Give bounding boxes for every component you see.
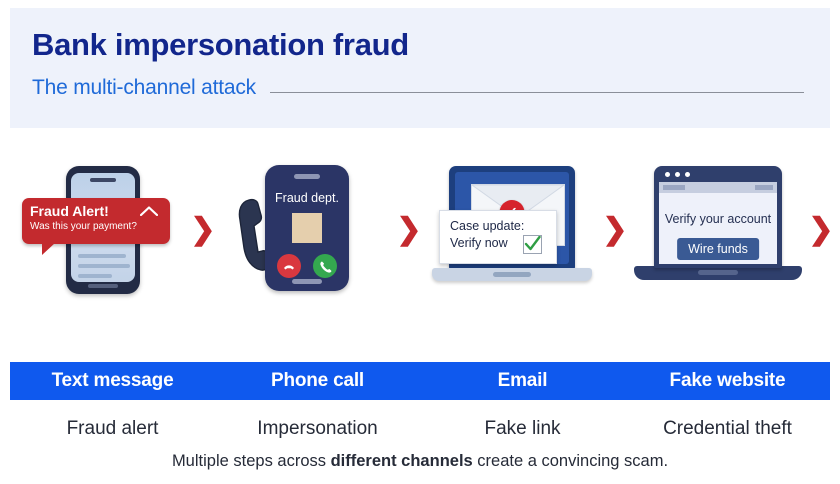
flow-arrow-1: ❯ (190, 215, 216, 245)
channel-label-fake-website: Fake website (625, 370, 830, 392)
infographic-canvas: Bank impersonation fraud The multi-chann… (0, 0, 840, 484)
browser-dot (675, 172, 680, 177)
email-notification-card: Case update: Verify now (439, 210, 557, 264)
attack-flow-strip: Fraud Alert! Was this your payment? ❯ Fr… (10, 150, 830, 310)
header-divider-rule (270, 92, 804, 93)
step-phone-call: Fraud dept. (216, 150, 396, 310)
caption-row: Fraud alert Impersonation Fake link Cred… (10, 412, 830, 446)
caption-impersonation: Impersonation (215, 418, 420, 440)
flow-arrow-3: ❯ (602, 215, 628, 245)
channel-label-email: Email (420, 370, 625, 392)
flow-arrow-4: ❯ (808, 215, 834, 245)
subtitle-row: The multi-channel attack (32, 76, 808, 100)
smartphone-sms-icon: Fraud Alert! Was this your payment? (20, 160, 180, 300)
browser-viewport: Verify your account Wire funds (659, 182, 777, 264)
channel-label-text-message: Text message (10, 370, 215, 392)
footer-emphasis: different channels (331, 452, 473, 470)
step-fake-website: Verify your account Wire funds (628, 150, 808, 310)
channel-label-phone-call: Phone call (215, 370, 420, 392)
footer-summary: Multiple steps across different channels… (0, 452, 840, 471)
caller-avatar (292, 213, 322, 243)
wire-funds-button[interactable]: Wire funds (677, 238, 759, 260)
laptop-browser-icon: Verify your account Wire funds (628, 164, 808, 296)
caption-fraud-alert: Fraud alert (10, 418, 215, 440)
caller-name: Fraud dept. (265, 191, 349, 205)
laptop-trackpad (493, 272, 531, 277)
accept-call-button[interactable] (313, 254, 337, 278)
header-banner: Bank impersonation fraud The multi-chann… (10, 8, 830, 128)
laptop-lid: Verify your account Wire funds (654, 166, 782, 268)
caption-fake-link: Fake link (420, 418, 625, 440)
caption-credential-theft: Credential theft (625, 418, 830, 440)
phone-body: Fraud dept. (265, 165, 349, 291)
phone-speaker-icon (90, 178, 116, 182)
phone-speaker-icon (294, 174, 320, 179)
chevron-up-icon (140, 206, 158, 216)
channel-header-bar: Text message Phone call Email Fake websi… (10, 362, 830, 400)
page-title: Bank impersonation fraud (32, 28, 808, 62)
laptop-trackpad (698, 270, 738, 275)
phone-decline-icon (282, 259, 296, 273)
fraud-alert-bubble: Fraud Alert! Was this your payment? (22, 198, 170, 244)
step-text-message: Fraud Alert! Was this your payment? (10, 150, 190, 310)
phone-accept-icon (319, 260, 332, 273)
card-line-1: Case update: (450, 218, 556, 235)
browser-dot (685, 172, 690, 177)
browser-url-bar[interactable] (659, 182, 777, 193)
incoming-call-icon: Fraud dept. (231, 160, 381, 300)
phone-home-indicator (292, 279, 322, 284)
browser-dot (665, 172, 670, 177)
alert-body: Was this your payment? (30, 220, 162, 233)
fake-site-heading: Verify your account (659, 212, 777, 226)
decline-call-button[interactable] (277, 254, 301, 278)
step-email: ✓ Case update: Verify now (422, 150, 602, 310)
green-check-icon (524, 236, 541, 253)
page-subtitle: The multi-channel attack (32, 76, 256, 100)
message-line (78, 264, 130, 268)
laptop-email-icon: ✓ Case update: Verify now (427, 164, 597, 296)
flow-arrow-2: ❯ (396, 215, 422, 245)
phone-home-indicator (88, 284, 118, 288)
footer-lead: Multiple steps across (172, 452, 331, 470)
verify-checkbox[interactable] (523, 235, 542, 254)
message-line (78, 254, 126, 258)
footer-tail: create a convincing scam. (473, 452, 668, 470)
browser-traffic-lights-icon (665, 172, 690, 177)
message-line (78, 274, 112, 278)
